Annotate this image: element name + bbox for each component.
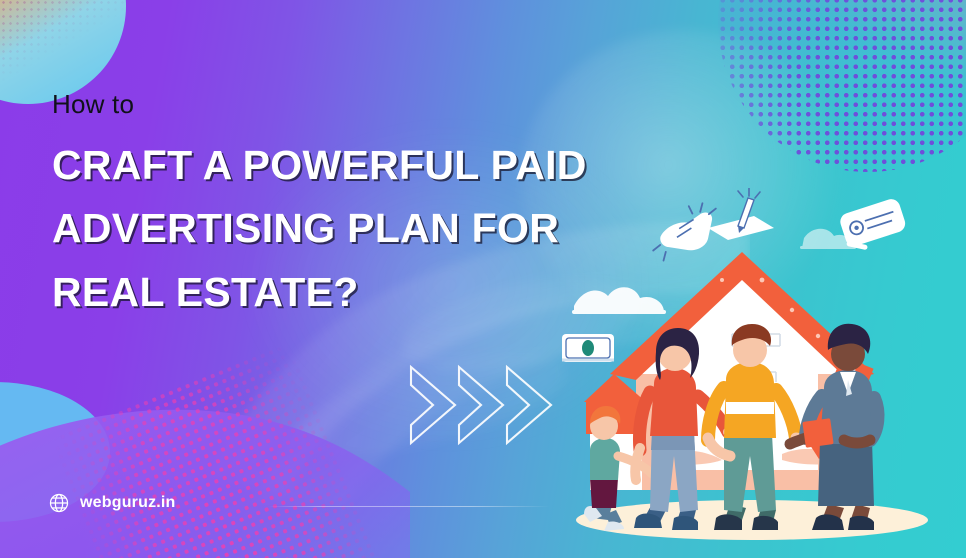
chevron-right-icon	[507, 367, 551, 443]
key-tag-icon	[838, 197, 909, 252]
eyebrow-text: How to	[52, 90, 672, 119]
halftone-dots-overlay	[718, 0, 966, 172]
banknote-icon	[562, 334, 614, 362]
brand-name: webguruz.in	[80, 494, 176, 512]
globe-icon	[48, 492, 70, 514]
document-signature-icon	[708, 188, 774, 240]
top-right-halftone-blob	[718, 0, 966, 172]
page-title: CRAFT A POWERFUL PAID ADVERTISING PLAN F…	[52, 134, 672, 325]
chevron-right-icon	[411, 367, 455, 443]
headline-line-3: REAL ESTATE?	[52, 261, 672, 325]
headline-line-2: ADVERTISING PLAN FOR	[52, 197, 672, 261]
brand-logo[interactable]: webguruz.in	[48, 492, 176, 514]
headline-line-1: CRAFT A POWERFUL PAID	[52, 134, 672, 198]
bottom-left-magenta-halftone	[48, 340, 401, 558]
divider-line	[268, 506, 550, 507]
blog-banner: How to CRAFT A POWERFUL PAID ADVERTISING…	[0, 0, 966, 558]
chevron-right-icon	[459, 367, 503, 443]
headline-block: How to CRAFT A POWERFUL PAID ADVERTISING…	[52, 90, 672, 324]
chevron-right-icon-group	[405, 362, 565, 448]
